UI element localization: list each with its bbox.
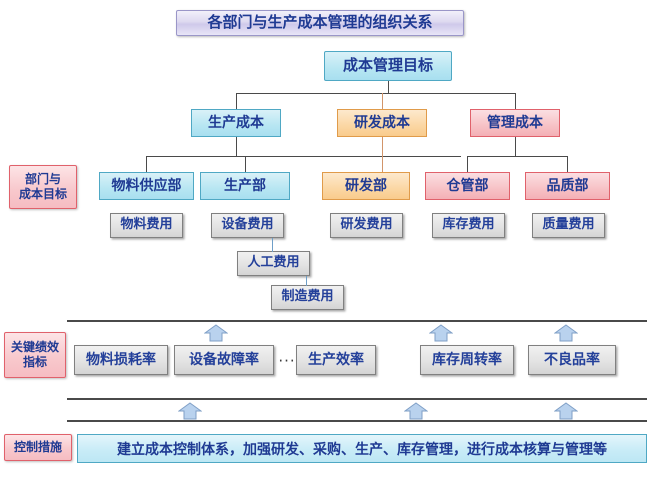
control-measures-text: 建立成本控制体系，加强研发、采购、生产、库存管理，进行成本核算与管理等 — [77, 434, 647, 463]
kpi-production-efficiency[interactable]: 生产效率 — [296, 345, 376, 375]
kpi-material-loss-rate[interactable]: 物料损耗率 — [74, 345, 168, 375]
cost-item-rnd[interactable]: 研发费用 — [330, 213, 403, 238]
node-material-supply-dept[interactable]: 物料供应部 — [99, 172, 194, 200]
connector-level2-drop-0 — [236, 93, 237, 109]
connector-level2-drop-2 — [515, 93, 516, 109]
connector-dept-drop-4 — [567, 156, 568, 172]
cost-item-equipment[interactable]: 设备费用 — [211, 213, 284, 238]
node-cost-management-goal[interactable]: 成本管理目标 — [324, 51, 452, 81]
node-production-dept[interactable]: 生产部 — [200, 172, 290, 200]
cost-item-manufacturing[interactable]: 制造费用 — [271, 285, 344, 310]
connector-labor-stem — [272, 238, 273, 252]
connector-prod-stem — [236, 137, 237, 156]
node-rnd-cost[interactable]: 研发成本 — [337, 109, 427, 137]
connector-dept-drop-1 — [245, 156, 246, 172]
up-arrow-icon — [554, 402, 578, 420]
cost-item-quality[interactable]: 质量费用 — [532, 213, 605, 238]
connector-level3-bus-left — [146, 156, 461, 157]
kpi-equipment-failure-rate[interactable]: 设备故障率 — [174, 345, 274, 375]
node-management-cost[interactable]: 管理成本 — [470, 109, 560, 137]
connector-level3-bus-right — [467, 156, 567, 157]
connector-mgmt-stem — [515, 137, 516, 156]
side-label-kpi: 关键绩效 指标 — [4, 332, 66, 378]
node-rnd-dept[interactable]: 研发部 — [322, 172, 410, 200]
up-arrow-icon — [404, 402, 428, 420]
cost-item-material[interactable]: 物料费用 — [110, 213, 183, 238]
kpi-ellipsis: ··· — [277, 350, 297, 372]
kpi-inventory-turnover-rate[interactable]: 库存周转率 — [420, 345, 514, 375]
side-label-control-measures: 控制措施 — [4, 434, 72, 461]
separator-control-top — [67, 420, 647, 422]
connector-root-stem — [388, 81, 389, 93]
connector-level2-bus — [236, 93, 516, 94]
diagram-canvas: 各部门与生产成本管理的组织关系 成本管理目标 生产成本 研发成本 管理成本 物料… — [0, 0, 650, 479]
up-arrow-icon — [554, 324, 578, 342]
side-label-dept-goal: 部门与 成本目标 — [9, 165, 77, 209]
node-quality-dept[interactable]: 品质部 — [525, 172, 610, 200]
up-arrow-icon — [178, 402, 202, 420]
connector-dept-drop-0 — [146, 156, 147, 172]
separator-kpi-bottom — [67, 398, 647, 400]
cost-item-labor[interactable]: 人工费用 — [237, 251, 310, 276]
separator-kpi-top — [67, 320, 647, 322]
diagram-title: 各部门与生产成本管理的组织关系 — [176, 10, 464, 36]
kpi-defect-rate[interactable]: 不良品率 — [528, 345, 616, 375]
side-label-dept-goal-line1: 部门与 — [25, 172, 61, 186]
connector-level2-drop-1 — [382, 93, 383, 109]
connector-manufacturing-stem — [306, 276, 307, 286]
node-production-cost[interactable]: 生产成本 — [191, 109, 281, 137]
cost-item-inventory[interactable]: 库存费用 — [432, 213, 505, 238]
connector-dept-drop-3 — [467, 156, 468, 172]
up-arrow-icon — [204, 324, 228, 342]
node-warehouse-dept[interactable]: 仓管部 — [425, 172, 510, 200]
side-label-kpi-line2: 指标 — [23, 355, 47, 369]
connector-rnd-stem — [382, 137, 383, 172]
up-arrow-icon — [429, 324, 453, 342]
side-label-dept-goal-line2: 成本目标 — [19, 187, 67, 201]
side-label-kpi-line1: 关键绩效 — [11, 340, 59, 354]
